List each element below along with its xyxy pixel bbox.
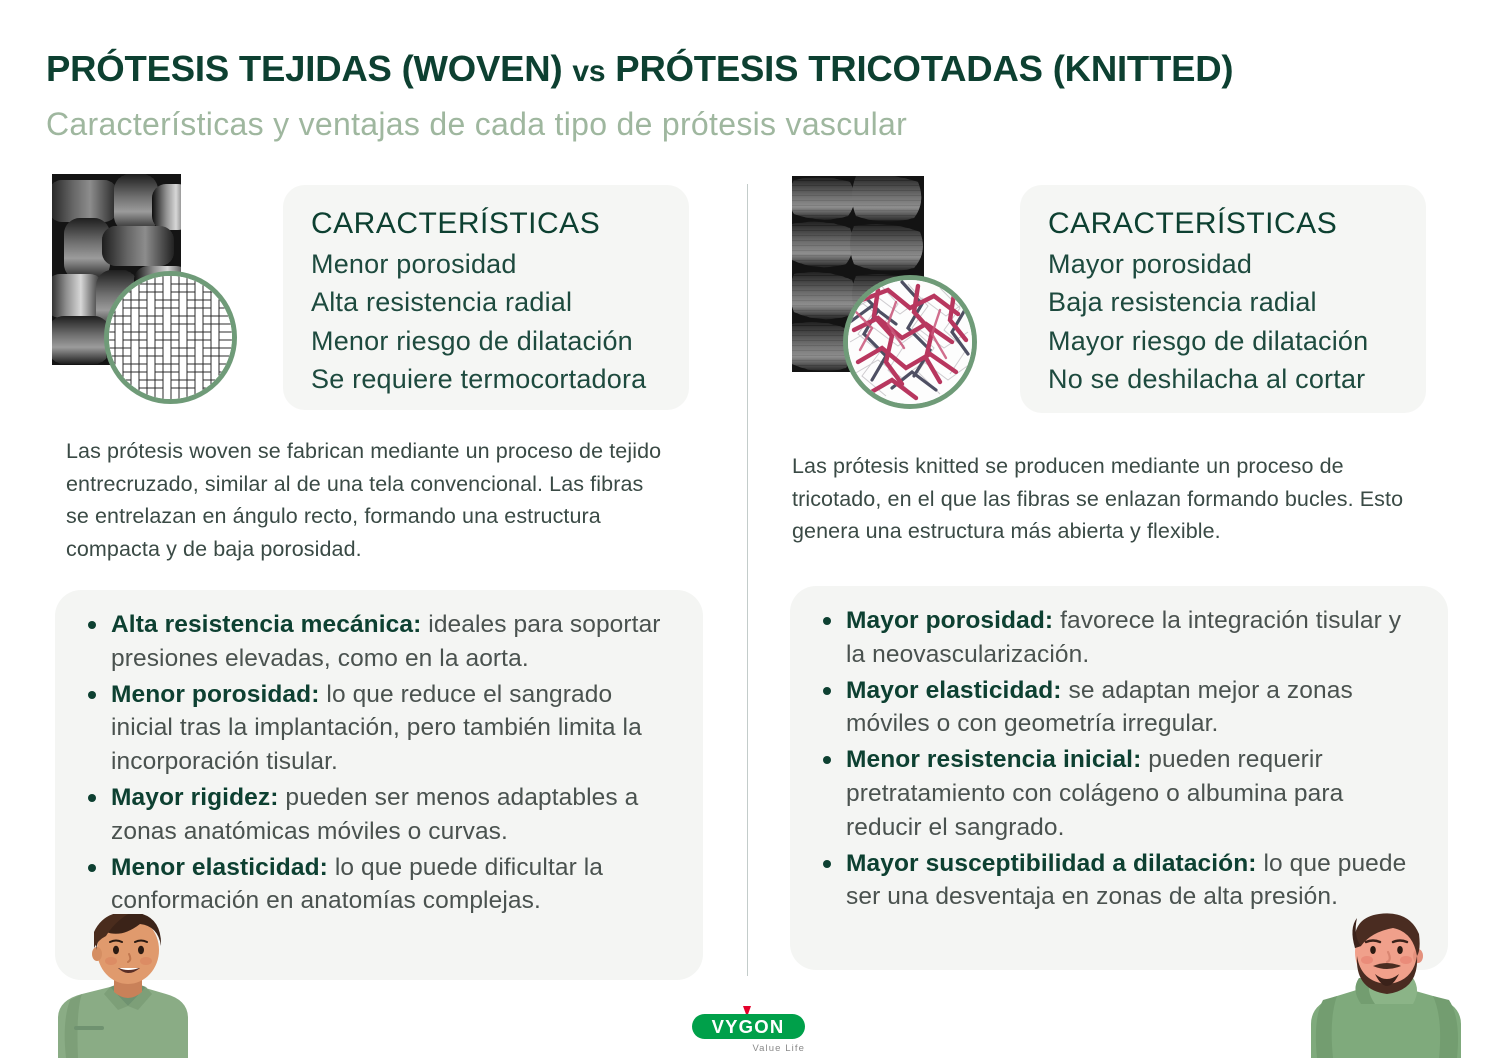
woven-characteristics-card: CARACTERÍSTICAS Menor porosidad Alta res… xyxy=(283,185,689,410)
bearded-man-in-green-turtleneck-illustration xyxy=(1293,912,1479,1058)
list-item: Mayor elasticidad: se adaptan mejor a zo… xyxy=(812,674,1422,742)
knitted-bullet-list: Mayor porosidad: favorece la integración… xyxy=(812,604,1422,914)
svg-text:Value Life: Value Life xyxy=(752,1043,805,1054)
vygon-logo: VYGON Value Life xyxy=(686,1006,811,1056)
woven-bullet-list: Alta resistencia mecánica: ideales para … xyxy=(77,608,677,918)
list-item: Alta resistencia mecánica: ideales para … xyxy=(77,608,677,676)
knitted-characteristic-item: Mayor riesgo de dilatación xyxy=(1048,322,1402,360)
woven-characteristic-item: Menor porosidad xyxy=(311,245,665,283)
left-column-woven: CARACTERÍSTICAS Menor porosidad Alta res… xyxy=(0,0,748,1058)
infographic-page: PRÓTESIS TEJIDAS (WOVEN) vs PRÓTESIS TRI… xyxy=(0,0,1497,1058)
woven-characteristics-title: CARACTERÍSTICAS xyxy=(311,207,665,241)
smiling-woman-in-green-scrubs-illustration xyxy=(48,914,208,1058)
list-item: Menor resistencia inicial: pueden requer… xyxy=(812,743,1422,844)
knitted-characteristic-item: Mayor porosidad xyxy=(1048,245,1402,283)
bullet-label: Menor porosidad: xyxy=(111,681,320,708)
bullet-label: Alta resistencia mecánica: xyxy=(111,611,421,638)
list-item: Mayor susceptibilidad a dilatación: lo q… xyxy=(812,847,1422,915)
knitted-characteristics-title: CARACTERÍSTICAS xyxy=(1048,207,1402,241)
knitted-characteristic-item: Baja resistencia radial xyxy=(1048,283,1402,321)
knitted-characteristics-card: CARACTERÍSTICAS Mayor porosidad Baja res… xyxy=(1020,185,1426,413)
list-item: Menor elasticidad: lo que puede dificult… xyxy=(77,851,677,919)
bullet-label: Mayor elasticidad: xyxy=(846,677,1062,704)
knitted-mesh-diagram-circle xyxy=(843,275,977,409)
woven-characteristic-item: Alta resistencia radial xyxy=(311,283,665,321)
list-item: Mayor porosidad: favorece la integración… xyxy=(812,604,1422,672)
bullet-label: Menor resistencia inicial: xyxy=(846,746,1141,773)
bullet-label: Menor elasticidad: xyxy=(111,854,328,881)
right-column-knitted: CARACTERÍSTICAS Mayor porosidad Baja res… xyxy=(748,0,1497,1058)
knitted-description-paragraph: Las prótesis knitted se producen mediant… xyxy=(792,450,1414,548)
bullet-label: Mayor porosidad: xyxy=(846,607,1053,634)
list-item: Menor porosidad: lo que reduce el sangra… xyxy=(77,678,677,779)
woven-weave-diagram-circle xyxy=(104,271,237,404)
woven-characteristic-item: Se requiere termocortadora xyxy=(311,360,665,398)
bullet-label: Mayor rigidez: xyxy=(111,784,278,811)
woven-characteristic-item: Menor riesgo de dilatación xyxy=(311,322,665,360)
list-item: Mayor rigidez: pueden ser menos adaptabl… xyxy=(77,781,677,849)
knitted-characteristic-item: No se deshilacha al cortar xyxy=(1048,360,1402,398)
svg-text:VYGON: VYGON xyxy=(712,1016,785,1037)
woven-description-paragraph: Las prótesis woven se fabrican mediante … xyxy=(66,435,670,566)
bullet-label: Mayor susceptibilidad a dilatación: xyxy=(846,850,1257,877)
